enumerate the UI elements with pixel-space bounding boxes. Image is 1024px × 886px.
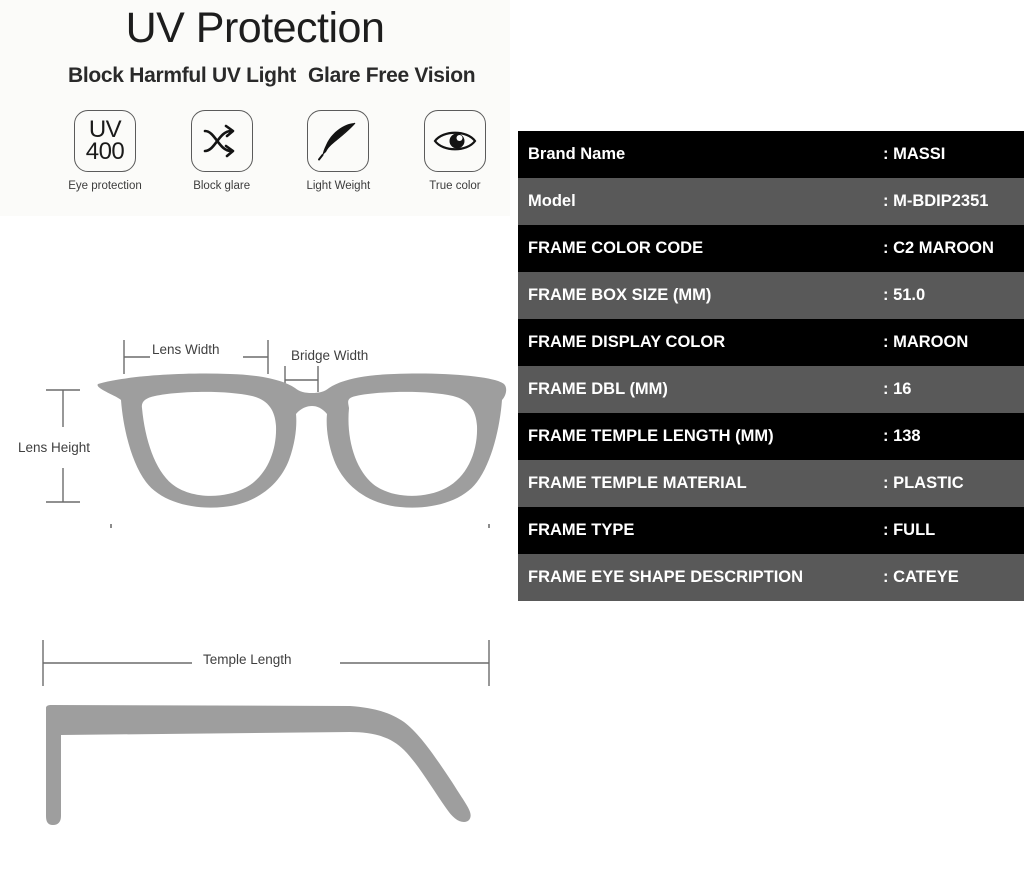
spec-value: : MAROON — [880, 319, 1024, 366]
feature-light-weight: Light Weight — [288, 110, 388, 192]
feature-label-block-glare: Block glare — [193, 180, 250, 192]
uv400-icon-bottom-text: 400 — [86, 141, 125, 163]
label-bridge-width: Bridge Width — [291, 348, 368, 363]
uv-protection-banner: UV Protection Block Harmful UV Light Gla… — [0, 0, 510, 216]
table-row: FRAME BOX SIZE (MM) : 51.0 — [518, 272, 1024, 319]
table-row: FRAME TYPE : FULL — [518, 507, 1024, 554]
spec-key: FRAME TEMPLE LENGTH (MM) — [518, 413, 880, 460]
spec-key: FRAME EYE SHAPE DESCRIPTION — [518, 554, 880, 601]
banner-subtitle-left: Block Harmful UV Light — [68, 64, 296, 88]
feather-icon — [307, 110, 369, 172]
feature-label-eye-protection: Eye protection — [68, 180, 142, 192]
table-row: FRAME TEMPLE MATERIAL : PLASTIC — [518, 460, 1024, 507]
feature-label-true-color: True color — [429, 180, 480, 192]
table-row: FRAME DBL (MM) : 16 — [518, 366, 1024, 413]
spec-key: FRAME COLOR CODE — [518, 225, 880, 272]
spec-value: : 51.0 — [880, 272, 1024, 319]
table-row: Model : M-BDIP2351 — [518, 178, 1024, 225]
table-row: FRAME TEMPLE LENGTH (MM) : 138 — [518, 413, 1024, 460]
spec-value: : CATEYE — [880, 554, 1024, 601]
feature-label-light-weight: Light Weight — [306, 180, 370, 192]
spec-key: Brand Name — [518, 131, 880, 178]
spec-key: FRAME DBL (MM) — [518, 366, 880, 413]
spec-table-body: Brand Name : MASSI Model : M-BDIP2351 FR… — [518, 131, 1024, 601]
label-lens-width: Lens Width — [152, 342, 220, 357]
spec-key: FRAME DISPLAY COLOR — [518, 319, 880, 366]
table-row: Brand Name : MASSI — [518, 131, 1024, 178]
spec-value: : 16 — [880, 366, 1024, 413]
banner-subtitle-right: Glare Free Vision — [308, 64, 475, 88]
product-specification-table: Brand Name : MASSI Model : M-BDIP2351 FR… — [518, 131, 1024, 601]
feature-block-glare: Block glare — [172, 110, 272, 192]
spec-value: : 138 — [880, 413, 1024, 460]
crossed-arrows-icon — [191, 110, 253, 172]
feature-eye-protection: UV 400 Eye protection — [55, 110, 155, 192]
spec-value: : M-BDIP2351 — [880, 178, 1024, 225]
eyeglasses-front-diagram — [0, 322, 512, 552]
table-row: FRAME COLOR CODE : C2 MAROON — [518, 225, 1024, 272]
label-temple-length: Temple Length — [203, 652, 292, 667]
banner-title: UV Protection — [0, 4, 510, 53]
spec-key: FRAME TEMPLE MATERIAL — [518, 460, 880, 507]
table-row: FRAME DISPLAY COLOR : MAROON — [518, 319, 1024, 366]
spec-value: : FULL — [880, 507, 1024, 554]
spec-key: FRAME BOX SIZE (MM) — [518, 272, 880, 319]
spec-value: : MASSI — [880, 131, 1024, 178]
spec-value: : C2 MAROON — [880, 225, 1024, 272]
spec-value: : PLASTIC — [880, 460, 1024, 507]
uv400-icon: UV 400 — [74, 110, 136, 172]
feature-true-color: True color — [405, 110, 505, 192]
table-row: FRAME EYE SHAPE DESCRIPTION : CATEYE — [518, 554, 1024, 601]
spec-key: Model — [518, 178, 880, 225]
label-lens-height: Lens Height — [18, 440, 90, 455]
product-spec-infographic: UV Protection Block Harmful UV Light Gla… — [0, 0, 1024, 886]
eye-icon — [424, 110, 486, 172]
feature-icon-row: UV 400 Eye protection Block glare — [55, 110, 505, 192]
spec-key: FRAME TYPE — [518, 507, 880, 554]
